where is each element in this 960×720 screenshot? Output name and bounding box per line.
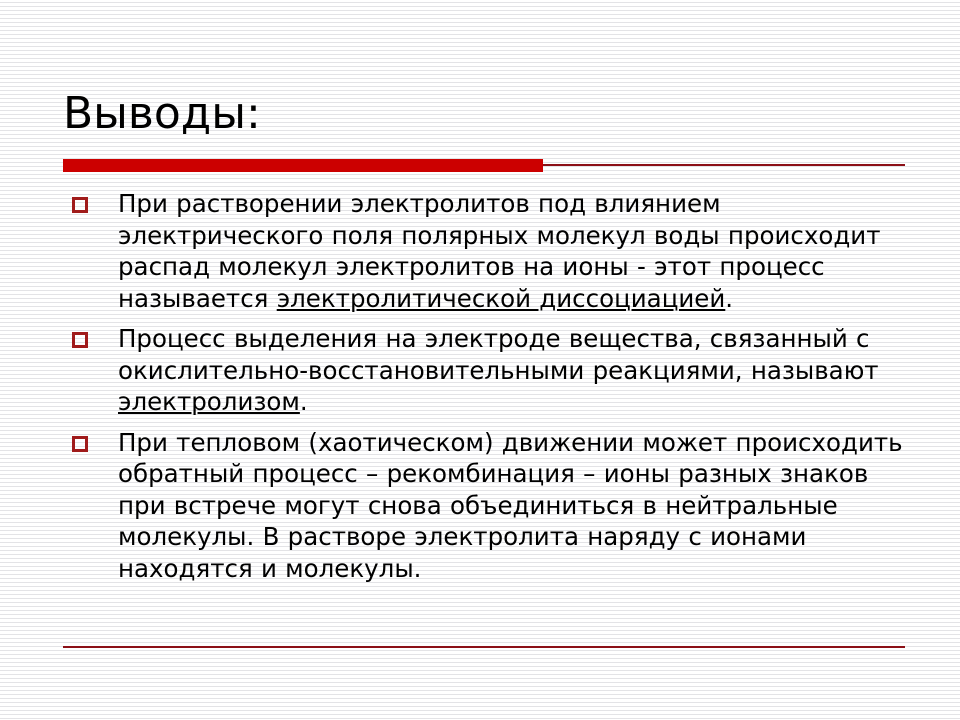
hollow-square-bullet-icon: [72, 436, 88, 452]
list-item-text: При тепловом (хаотическом) движении може…: [118, 427, 913, 585]
hollow-square-bullet-icon: [72, 197, 88, 213]
list-item: Процесс выделения на электроде вещества,…: [63, 323, 913, 418]
list-item-term-emphasis: электролизом: [118, 387, 300, 416]
list-item-text-lead: Процесс выделения на электроде вещества,…: [118, 324, 879, 385]
list-item-text-tail: .: [300, 387, 308, 416]
list-item: При растворении электролитов под влияние…: [63, 188, 913, 314]
list-item-text-lead: При тепловом (хаотическом) движении може…: [118, 428, 903, 583]
conclusions-list: При растворении электролитов под влияние…: [63, 188, 913, 593]
list-item-text: Процесс выделения на электроде вещества,…: [118, 323, 913, 418]
title-block: Выводы:: [63, 88, 913, 140]
list-item: При тепловом (хаотическом) движении може…: [63, 427, 913, 585]
hollow-square-bullet-icon: [72, 332, 88, 348]
list-item-text: При растворении электролитов под влияние…: [118, 188, 913, 314]
footer-rule: [63, 646, 905, 648]
title-underline-rule: [63, 159, 905, 172]
title-rule-thick-bar: [63, 159, 543, 172]
page-title: Выводы:: [63, 88, 913, 140]
presentation-slide: Выводы: При растворении электролитов под…: [0, 0, 960, 720]
list-item-term-emphasis: электролитической диссоциацией: [277, 284, 726, 313]
list-item-text-tail: .: [725, 284, 733, 313]
